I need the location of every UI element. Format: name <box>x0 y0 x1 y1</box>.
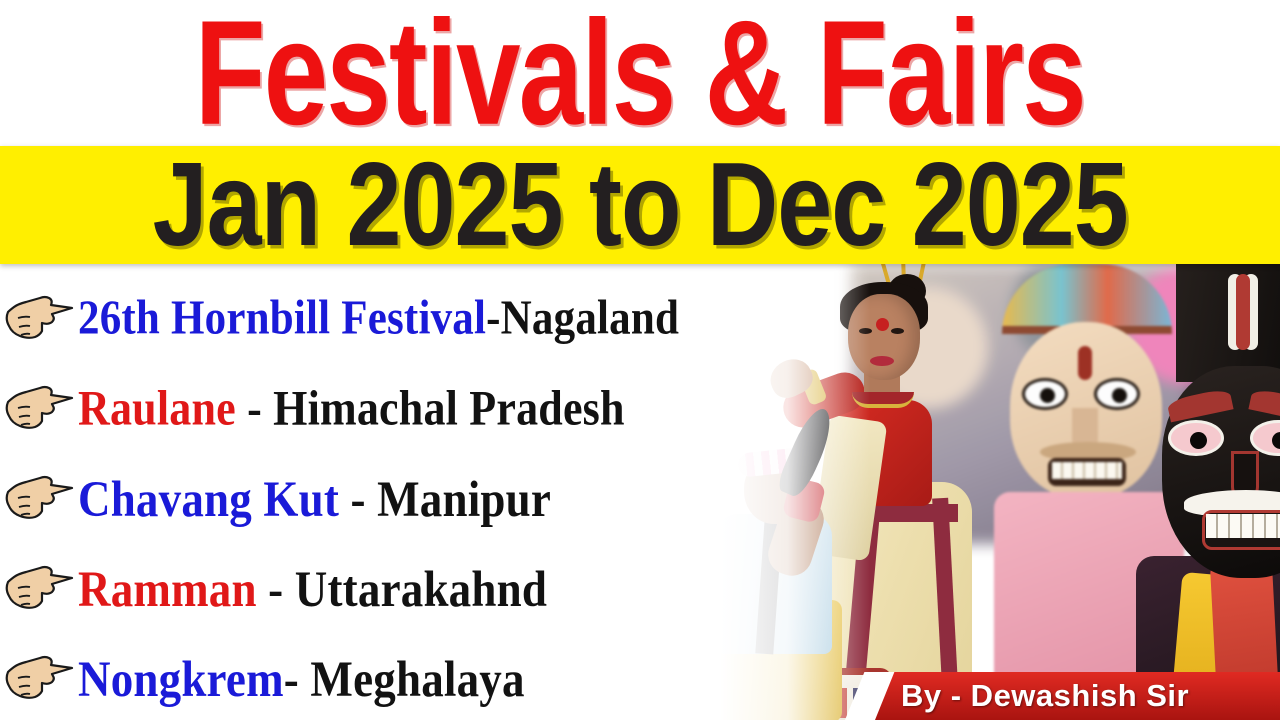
list-item: Chavang Kut - Manipur <box>0 462 870 536</box>
festival-name: Chavang Kut <box>78 471 339 527</box>
festival-separator: - <box>236 381 273 436</box>
thumbnail-canvas: Festivals & Fairs Jan 2025 to Dec 2025 2… <box>0 0 1280 720</box>
festival-name: Raulane <box>78 381 236 436</box>
festival-name: Ramman <box>78 561 257 617</box>
credit-badge: By - Dewashish Sir <box>845 672 1280 720</box>
festival-name: 26th Hornbill Festival <box>78 292 486 345</box>
list-item: Ramman - Uttarakahnd <box>0 552 870 626</box>
pointing-hand-icon <box>4 560 76 618</box>
list-item-text: 26th Hornbill Festival-Nagaland <box>78 290 679 348</box>
festival-separator: - <box>257 561 295 617</box>
pointing-hand-icon <box>4 290 76 348</box>
list-item-text: Chavang Kut - Manipur <box>78 470 551 528</box>
pointing-hand-icon <box>4 380 76 438</box>
festival-name: Nongkrem <box>78 651 284 707</box>
festival-separator: - <box>486 292 501 345</box>
festival-state: Himachal Pradesh <box>273 381 625 436</box>
list-item-text: Nongkrem- Meghalaya <box>78 650 525 708</box>
date-range-text: Jan 2025 to Dec 2025 <box>152 146 1127 265</box>
credit-badge-text: By - Dewashish Sir <box>901 672 1280 720</box>
list-item-text: Raulane - Himachal Pradesh <box>78 380 625 438</box>
list-item-text: Ramman - Uttarakahnd <box>78 560 547 618</box>
festival-separator: - <box>339 471 377 527</box>
festival-separator: - <box>284 651 311 707</box>
page-title: Festivals & Fairs <box>195 0 1085 147</box>
list-item: Nongkrem- Meghalaya <box>0 642 870 716</box>
festival-state: Meghalaya <box>310 651 524 707</box>
festival-state: Uttarakahnd <box>295 561 547 617</box>
list-item: Raulane - Himachal Pradesh <box>0 372 870 446</box>
list-item: 26th Hornbill Festival-Nagaland <box>0 282 870 356</box>
festival-state: Nagaland <box>501 292 679 345</box>
festival-list: 26th Hornbill Festival-Nagaland Raulane … <box>0 272 870 720</box>
date-range-band: Jan 2025 to Dec 2025 <box>0 146 1280 264</box>
festival-state: Manipur <box>377 471 551 527</box>
pointing-hand-icon <box>4 650 76 708</box>
black-traditional-mask-figure <box>1110 264 1280 720</box>
title-band: Festivals & Fairs <box>0 0 1280 146</box>
pointing-hand-icon <box>4 470 76 528</box>
